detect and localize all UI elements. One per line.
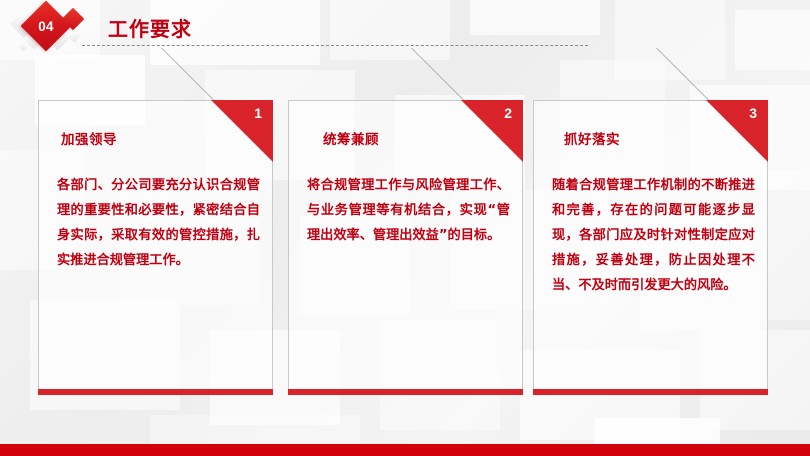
card-corner-ribbon: 1 <box>211 100 273 162</box>
corner-diagonal-line-icon <box>656 48 713 105</box>
card-number-label: 1 <box>254 105 262 121</box>
card-bottom-bar <box>38 389 273 395</box>
card-number-label: 3 <box>749 105 757 121</box>
card-corner-ribbon: 2 <box>461 100 523 162</box>
card-heading: 统筹兼顾 <box>323 128 379 148</box>
card-number-label: 2 <box>504 105 512 121</box>
slide-bottom-bar <box>0 444 810 456</box>
corner-diagonal-line-icon <box>411 48 468 105</box>
slide-root: 04 工作要求 1 加强领导 各部门、分公司要充分认识合规管理的重要性和必要性，… <box>0 0 810 456</box>
requirement-card-2[interactable]: 2 统筹兼顾 将合规管理工作与风险管理工作、与业务管理等有机结合，实现“管理出效… <box>288 100 523 390</box>
card-body-text: 各部门、分公司要充分认识合规管理的重要性和必要性，紧密结合自身实际，采取有效的管… <box>57 173 260 273</box>
corner-diagonal-line-icon <box>161 48 218 105</box>
card-heading: 抓好落实 <box>564 128 620 148</box>
corner-triangle-icon <box>211 100 273 162</box>
cards-container: 1 加强领导 各部门、分公司要充分认识合规管理的重要性和必要性，紧密结合自身实际… <box>0 0 810 456</box>
card-body-text: 将合规管理工作与风险管理工作、与业务管理等有机结合，实现“管理出效率、管理出效益… <box>307 173 510 248</box>
corner-triangle-icon <box>706 100 768 162</box>
card-bottom-bar <box>288 389 523 395</box>
card-body-text: 随着合规管理工作机制的不断推进和完善，存在的问题可能逐步显现，各部门应及时针对性… <box>552 173 755 298</box>
requirement-card-1[interactable]: 1 加强领导 各部门、分公司要充分认识合规管理的重要性和必要性，紧密结合自身实际… <box>38 100 273 390</box>
card-bottom-bar <box>533 389 768 395</box>
card-corner-ribbon: 3 <box>706 100 768 162</box>
card-heading: 加强领导 <box>61 128 117 148</box>
requirement-card-3[interactable]: 3 抓好落实 随着合规管理工作机制的不断推进和完善，存在的问题可能逐步显现，各部… <box>533 100 768 390</box>
corner-triangle-icon <box>461 100 523 162</box>
